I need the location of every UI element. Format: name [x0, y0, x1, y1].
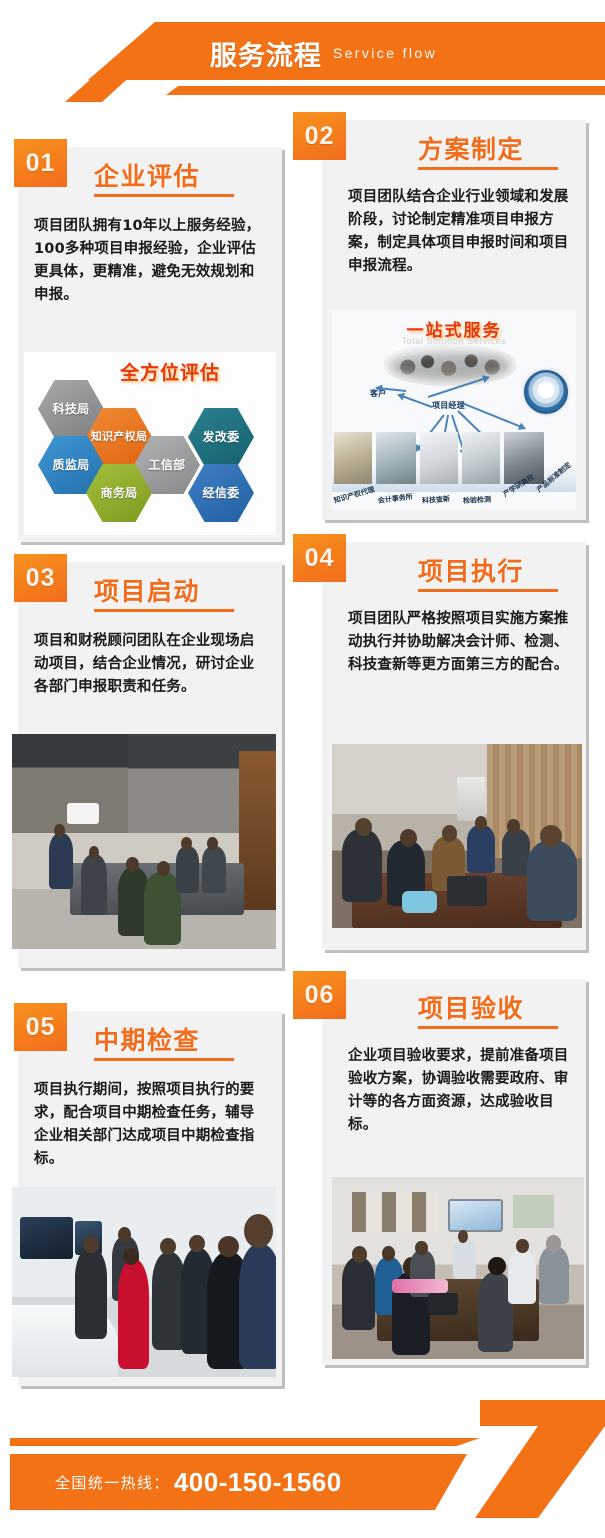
person-3-head — [442, 825, 457, 842]
person-6-head — [540, 825, 563, 847]
footer-top-stripe — [10, 1438, 605, 1446]
card-number-badge: 05 — [14, 1003, 67, 1051]
hex-label: 知识产权局 — [91, 431, 148, 444]
service-label-accounting: 会计事务所 — [377, 492, 413, 506]
wall-board — [513, 1195, 553, 1228]
page-footer: 全国统一热线： 400-150-1560 — [0, 1400, 605, 1538]
laptop — [447, 876, 487, 905]
thumb-inspection — [462, 432, 500, 484]
person-5-head — [507, 819, 520, 834]
person-3-head — [123, 1248, 139, 1265]
hex-label: 工信部 — [149, 458, 186, 472]
laptop — [428, 1293, 458, 1315]
title-underline — [94, 609, 234, 612]
certificate-frames — [352, 1192, 438, 1232]
person-3-head — [126, 857, 139, 872]
card-number-badge: 04 — [293, 534, 346, 582]
infographic-title: 全方位评估 — [120, 358, 220, 385]
person-5-head — [181, 837, 192, 850]
photo-scene — [12, 734, 276, 949]
service-label-inspection: 检验检测 — [463, 495, 491, 506]
service-card-02[interactable]: 02 方案制定 项目团队结合企业行业领域和发展阶段，讨论制定精准项目申报方案，制… — [322, 120, 586, 520]
media-hexagon-infographic: 全方位评估 科技局 知识产权局 质监局 工信部 商务局 发改委 — [24, 352, 276, 535]
hex-node-jingxinwei: 经信委 — [188, 464, 254, 522]
service-card-04[interactable]: 04 项目执行 项目团队严格按照项目实施方案推动执行并协助解决会计师、检测、科技… — [322, 542, 586, 950]
title-underline — [418, 167, 558, 170]
card-number-badge: 03 — [14, 554, 67, 602]
hex-label: 科技局 — [53, 402, 90, 416]
person-2-head — [89, 846, 100, 859]
hero-meeting-photo — [384, 344, 516, 386]
card-body-text: 企业项目验收要求，提前准备项目验收方案，协调验收需要政府、审计等的各方面资源，达… — [348, 1045, 574, 1137]
media-photo-execution-meeting — [332, 744, 582, 928]
media-photo-kickoff-meeting — [12, 734, 276, 949]
service-card-05[interactable]: 05 中期检查 项目执行期间，按照项目执行的要求，配合项目中期检查任务，辅导企业… — [18, 1011, 282, 1386]
grid-row-3: 05 中期检查 项目执行期间，按照项目执行的要求，配合项目中期检查任务，辅导企业… — [0, 981, 605, 1401]
person-7-head — [244, 1214, 273, 1248]
person-6-head — [207, 837, 218, 850]
card-body-text: 项目执行期间，按照项目执行的要求，配合项目中期检查任务，辅导企业相关部门达成项目… — [34, 1079, 268, 1171]
display-screen-1 — [20, 1217, 73, 1259]
person-2-head — [382, 1246, 395, 1261]
hex-label: 质监局 — [53, 458, 90, 472]
person-1 — [75, 1248, 107, 1339]
person-2-head — [400, 829, 418, 847]
card-title: 企业评估 — [94, 157, 200, 193]
person-5 — [453, 1239, 476, 1279]
title-underline — [94, 194, 234, 197]
standard-seal-icon — [524, 370, 568, 414]
service-card-03[interactable]: 03 项目启动 项目和财税顾问团队在企业现场启动项目，结合企业情况，研讨企业各部… — [18, 562, 282, 968]
media-one-stop-service: 一站式服务 Total Solution Services 客户 项目经理 — [332, 310, 576, 510]
node-project-manager: 项目经理 — [432, 400, 465, 411]
person-6 — [202, 846, 226, 893]
person-8-head — [546, 1235, 561, 1251]
hotline-number[interactable]: 400-150-1560 — [174, 1467, 342, 1498]
person-2-head — [118, 1227, 131, 1242]
person-5 — [502, 829, 530, 877]
card-title: 项目启动 — [94, 572, 200, 608]
person-6-head — [488, 1257, 506, 1275]
person-1 — [342, 829, 382, 903]
card-number-badge: 02 — [293, 112, 346, 160]
whiteboard — [67, 803, 99, 825]
person-4 — [467, 825, 495, 873]
hotline-label: 全国统一热线： — [55, 1472, 170, 1493]
person-4-head — [415, 1241, 428, 1256]
card-title: 中期检查 — [94, 1021, 200, 1057]
title-underline — [94, 1058, 234, 1061]
person-7 — [239, 1244, 276, 1369]
page-subtitle: Service flow — [333, 45, 437, 61]
person-5-head — [189, 1235, 205, 1252]
page-title: 服务流程 — [210, 34, 322, 73]
person-6 — [527, 840, 577, 921]
person-1 — [49, 833, 73, 889]
service-flow-grid: 01 企业评估 项目团队拥有10年以上服务经验，100多种项目申报经验，企业评估… — [0, 102, 605, 1401]
person-3-red-coat — [118, 1259, 150, 1369]
hotline-group: 全国统一热线： 400-150-1560 — [55, 1454, 342, 1510]
person-1-head — [355, 818, 373, 836]
title-underline — [418, 589, 558, 592]
hex-node-fagaiwei: 发改委 — [188, 408, 254, 466]
flowers — [392, 1279, 447, 1294]
thumb-accounting — [376, 432, 416, 484]
projector-screen — [448, 1199, 503, 1232]
photo-scene — [12, 1187, 276, 1377]
person-7 — [508, 1250, 536, 1305]
service-label-tech-search: 科技查新 — [422, 494, 451, 506]
person-5 — [176, 846, 200, 893]
header-title-group: 服务流程 Service flow — [0, 30, 605, 76]
person-1-head — [352, 1246, 367, 1262]
card-number-badge: 01 — [14, 139, 67, 187]
photo-scene — [332, 1177, 584, 1359]
thumb-tech-search — [420, 432, 458, 484]
person-4-head — [160, 1238, 176, 1255]
media-photo-showroom-visit — [12, 1187, 276, 1377]
bag — [402, 891, 437, 913]
card-title: 项目执行 — [418, 552, 524, 588]
card-body-text: 项目团队严格按照项目实施方案推动执行并协助解决会计师、检测、科技查新等更方面第三… — [348, 608, 574, 677]
card-title: 方案制定 — [418, 130, 524, 166]
title-underline — [418, 1026, 558, 1029]
card-body-text: 项目团队拥有10年以上服务经验，100多种项目申报经验，企业评估更具体，更精准，… — [34, 215, 268, 307]
thumb-ip-agency — [334, 432, 372, 484]
person-5-head — [458, 1230, 468, 1243]
card-number-badge: 06 — [293, 971, 346, 1019]
grid-row-2: 03 项目启动 项目和财税顾问团队在企业现场启动项目，结合企业情况，研讨企业各部… — [0, 544, 605, 981]
person-2 — [81, 854, 107, 914]
person-1 — [342, 1257, 375, 1330]
service-card-01[interactable]: 01 企业评估 项目团队拥有10年以上服务经验，100多种项目申报经验，企业评估… — [18, 147, 282, 542]
person-1-head — [54, 824, 65, 837]
photo-scene — [332, 744, 582, 928]
card-title: 项目验收 — [418, 989, 524, 1025]
grid-row-1: 01 企业评估 项目团队拥有10年以上服务经验，100多种项目申报经验，企业评估… — [0, 102, 605, 544]
person-7-head — [516, 1239, 529, 1254]
wood-panel — [239, 751, 276, 910]
service-card-06[interactable]: 06 项目验收 企业项目验收要求，提前准备项目验收方案，协调验收需要政府、审计等… — [322, 979, 586, 1365]
ac-unit — [457, 777, 485, 821]
card-body-text: 项目和财税顾问团队在企业现场启动项目，结合企业情况，研讨企业各部门申报职责和任务… — [34, 630, 268, 699]
card-body-text: 项目团队结合企业行业领域和发展阶段，讨论制定精准项目申报方案，制定具体项目申报时… — [348, 186, 574, 278]
hex-label: 商务局 — [101, 486, 138, 500]
person-8 — [539, 1246, 569, 1304]
hex-label: 经信委 — [203, 486, 240, 500]
hex-label: 发改委 — [203, 430, 240, 444]
media-photo-acceptance-meeting — [332, 1177, 584, 1359]
